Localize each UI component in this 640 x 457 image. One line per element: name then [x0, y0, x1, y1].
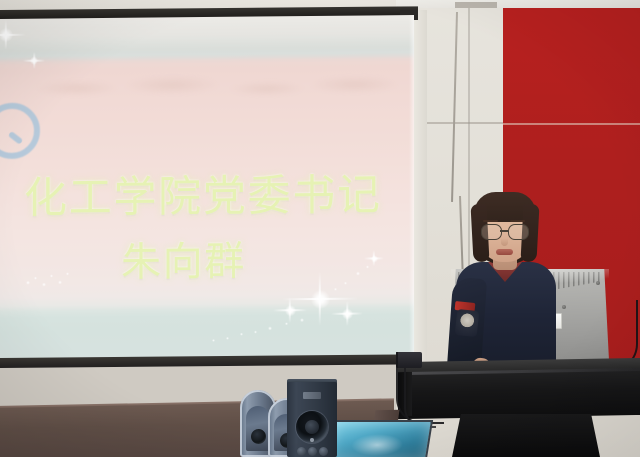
podium-base: [452, 414, 600, 457]
nose: [501, 238, 508, 246]
sparkle-dust: [344, 282, 347, 285]
laptop-screen: [327, 420, 433, 457]
projection-screen: 化工学院党委书记 朱向群: [0, 15, 414, 367]
screen-edge-highlight: [409, 15, 414, 363]
speaker-led: [310, 438, 314, 442]
eyeglasses-bridge: [500, 230, 508, 232]
eyeglasses-lens-left: [481, 224, 502, 240]
eyebrow-right: [510, 220, 525, 222]
slide-title: 化工学院党委书记: [24, 160, 382, 225]
sleeve-emblem: [455, 309, 480, 337]
sparkle-dust: [240, 333, 243, 336]
wall-panel-seam: [503, 123, 640, 125]
sparkle-dust: [212, 339, 215, 342]
floor-cable: [404, 368, 436, 428]
photo-scene: 化工学院党委书记 朱向群: [0, 0, 640, 457]
sparkle-dust: [268, 326, 272, 330]
slide-logo-icon: [0, 103, 40, 160]
slide-speaker-name: 朱向群: [121, 229, 246, 288]
speaker-knobs: [297, 447, 327, 457]
eyebrow-left: [483, 220, 498, 222]
monitor-screw: [596, 281, 600, 285]
sparkle-dust: [366, 265, 369, 268]
eyeglasses-lens-right: [508, 224, 529, 240]
sparkle-dust: [66, 272, 69, 275]
sparkle-dust: [34, 277, 37, 280]
slide-texture: [20, 63, 400, 111]
sparkle-dust: [300, 318, 304, 322]
mouth: [496, 249, 513, 255]
sparkle-dust: [285, 322, 288, 325]
speaker-cone: [251, 429, 266, 444]
sparkle-dust: [26, 281, 30, 285]
sparkle-dust: [226, 337, 229, 340]
speaker-brand-badge: [303, 392, 321, 399]
sparkle-dust: [254, 331, 257, 334]
speaker-face: [246, 406, 270, 451]
sparkle-dust: [42, 283, 46, 287]
sparkle-dust: [334, 288, 337, 291]
speaker-person: [440, 190, 570, 380]
sparkle-dust: [50, 274, 53, 277]
sparkle-dust: [356, 272, 360, 276]
sparkle-dust: [58, 280, 62, 284]
laptop-screen-glow: [349, 434, 404, 456]
